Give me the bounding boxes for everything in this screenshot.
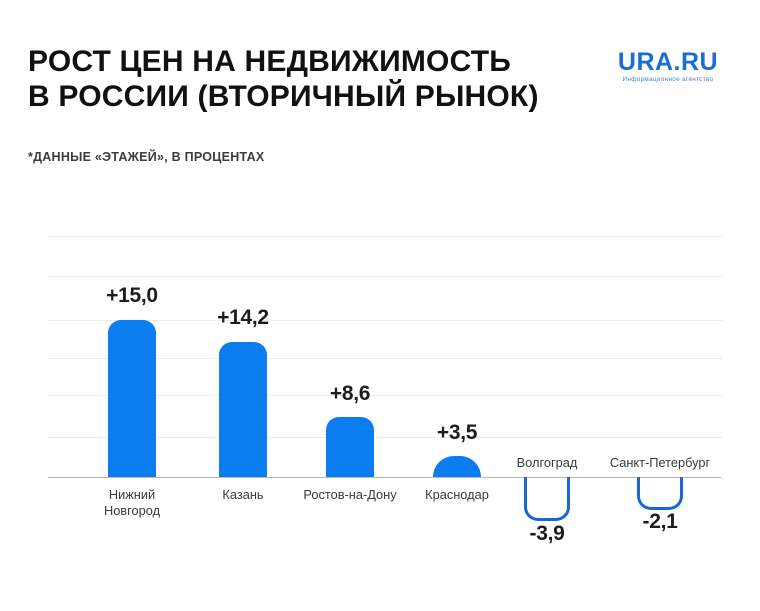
bar-category-label: Краснодар: [407, 487, 507, 503]
bar-value-label: +14,2: [203, 306, 283, 330]
bar-rect[interactable]: [219, 342, 267, 477]
title-line-1: РОСТ ЦЕН НА НЕДВИЖИМОСТЬ: [28, 44, 608, 79]
bar-rect-negative[interactable]: [524, 477, 570, 521]
bar-rect[interactable]: [108, 320, 156, 477]
logo-tagline: Информационное агентство: [598, 76, 738, 83]
bar-category-label: Волгоград: [497, 455, 597, 471]
bar-rect[interactable]: [326, 417, 374, 477]
title-line-2: В РОССИИ (ВТОРИЧНЫЙ РЫНОК): [28, 79, 608, 114]
bar-rect[interactable]: [433, 456, 481, 477]
bar-group-nizhny-novgorod[interactable]: +15,0 Нижний Новгород: [108, 210, 156, 611]
infographic-root: РОСТ ЦЕН НА НЕДВИЖИМОСТЬ В РОССИИ (ВТОРИ…: [0, 0, 760, 611]
bar-group-rostov-na-donu[interactable]: +8,6 Ростов-на-Дону: [326, 210, 374, 611]
page-title: РОСТ ЦЕН НА НЕДВИЖИМОСТЬ В РОССИИ (ВТОРИ…: [28, 44, 608, 114]
chart-source-note: *ДАННЫЕ «ЭТАЖЕЙ», В ПРОЦЕНТАХ: [28, 150, 264, 164]
bar-category-label: Казань: [195, 487, 291, 503]
bar-rect-negative[interactable]: [637, 477, 683, 510]
ura-ru-logo: URA.RU Информационное агентство: [598, 50, 738, 83]
bar-chart: 25 15 10 0 +15,0 Нижний Новгород +14,2 К…: [0, 210, 760, 611]
bar-value-label: +8,6: [310, 382, 390, 406]
header: РОСТ ЦЕН НА НЕДВИЖИМОСТЬ В РОССИИ (ВТОРИ…: [0, 0, 760, 180]
bar-category-label: Нижний Новгород: [84, 487, 180, 519]
bar-value-label: -2,1: [620, 510, 700, 534]
bar-value-label: +3,5: [417, 421, 497, 445]
bar-group-saint-petersburg[interactable]: Санкт-Петербург -2,1: [637, 210, 683, 611]
bar-series: +15,0 Нижний Новгород +14,2 Казань +8,6 …: [0, 210, 760, 611]
bar-category-label: Санкт-Петербург: [599, 455, 721, 471]
bar-value-label: -3,9: [507, 522, 587, 546]
bar-group-volgograd[interactable]: Волгоград -3,9: [524, 210, 570, 611]
bar-group-krasnodar[interactable]: +3,5 Краснодар: [433, 210, 481, 611]
bar-value-label: +15,0: [92, 284, 172, 308]
bar-category-label: Ростов-на-Дону: [289, 487, 411, 503]
logo-wordmark: URA.RU: [598, 50, 738, 75]
bar-group-kazan[interactable]: +14,2 Казань: [219, 210, 267, 611]
